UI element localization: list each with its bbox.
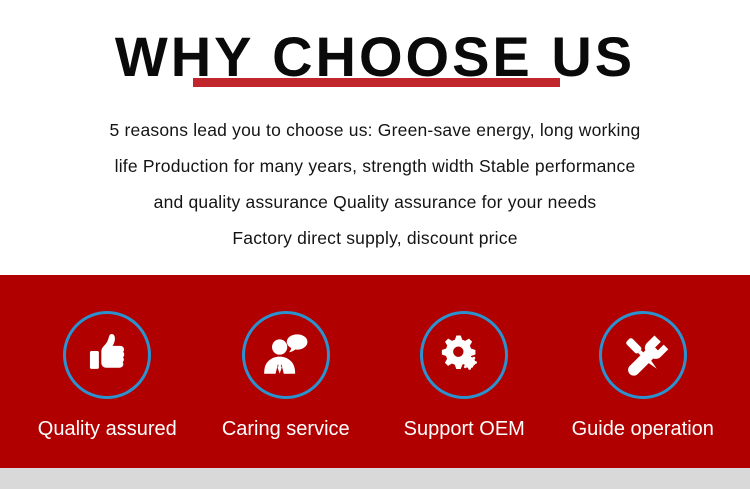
feature-label: Guide operation [572, 417, 714, 441]
intro-section: WHY CHOOSE US 5 reasons lead you to choo… [0, 0, 750, 275]
feature-label: Quality assured [38, 417, 177, 441]
feature-item: Support OEM [379, 275, 549, 441]
why-choose-us-banner: WHY CHOOSE US 5 reasons lead you to choo… [0, 0, 750, 489]
intro-line: and quality assurance Quality assurance … [0, 184, 750, 220]
thumbs-up-icon [81, 329, 133, 381]
feature-icon-circle [63, 311, 151, 399]
feature-item: Quality assured [22, 275, 192, 441]
intro-line: 5 reasons lead you to choose us: Green-s… [0, 112, 750, 148]
feature-icon-circle [420, 311, 508, 399]
page-title: WHY CHOOSE US [115, 28, 635, 86]
feature-icon-circle [242, 311, 330, 399]
intro-line: life Production for many years, strength… [0, 148, 750, 184]
page-title-wrap: WHY CHOOSE US [0, 28, 750, 86]
wrench-screwdriver-icon [617, 329, 669, 381]
bottom-divider-strip [0, 468, 750, 489]
feature-label: Caring service [222, 417, 350, 441]
gears-icon [438, 329, 490, 381]
features-list: Quality assured [0, 275, 750, 468]
intro-line: Factory direct supply, discount price [0, 220, 750, 256]
feature-item: Guide operation [558, 275, 728, 441]
feature-item: Caring service [201, 275, 371, 441]
intro-paragraph: 5 reasons lead you to choose us: Green-s… [0, 112, 750, 256]
customer-service-icon [259, 330, 313, 380]
features-band: Quality assured [0, 275, 750, 468]
feature-icon-circle [599, 311, 687, 399]
feature-label: Support OEM [404, 417, 525, 441]
